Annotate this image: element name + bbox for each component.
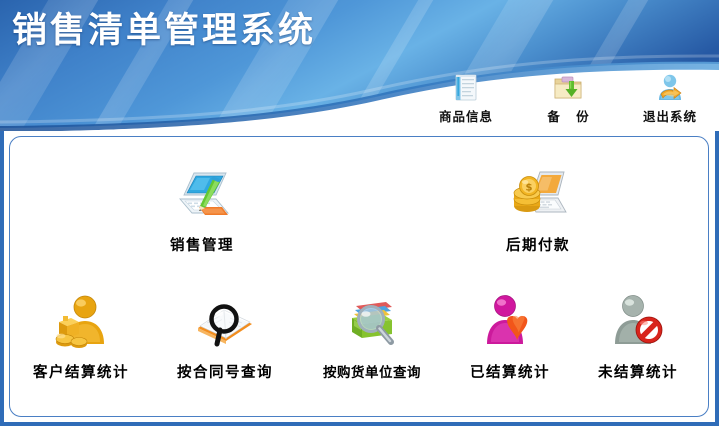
document-icon (449, 72, 483, 104)
page-title: 销售清单管理系统 (12, 9, 316, 53)
menu-label-settled-stats: 已结算统计 (470, 361, 550, 382)
application-window: 销售清单管理系统 商品信息 (0, 0, 719, 426)
pink-user-heart-icon (478, 292, 542, 354)
menu-label-unsettled-stats: 未结算统计 (598, 361, 678, 382)
menu-item-customer-settlement-stats[interactable]: 客户结算统计 (11, 292, 151, 382)
left-border-rail (0, 131, 4, 426)
folder-download-icon (551, 72, 585, 104)
toolbar-label-exit-system: 退出系统 (643, 106, 697, 125)
user-exit-icon (653, 72, 687, 104)
menu-panel: 销售管理 (9, 136, 709, 417)
toolbar-item-product-info[interactable]: 商品信息 (427, 72, 505, 125)
bottom-border-rail (0, 422, 719, 426)
book-magnifier-icon (193, 292, 257, 354)
cards-magnifier-icon (340, 292, 404, 354)
menu-item-unsettled-stats[interactable]: 未结算统计 (568, 292, 708, 382)
menu-label-query-by-purchaser: 按购货单位查询 (323, 361, 421, 381)
gray-user-forbidden-icon (606, 292, 670, 354)
main-content-area: 销售管理 (0, 131, 719, 426)
svg-text:$: $ (526, 183, 533, 194)
toolbar-label-backup: 备 份 (541, 106, 594, 125)
gold-user-coins-icon (49, 292, 113, 354)
menu-item-sales-management[interactable]: 销售管理 (132, 165, 272, 255)
toolbar-label-product-info: 商品信息 (439, 106, 493, 125)
menu-item-query-by-purchaser[interactable]: 按购货单位查询 (302, 292, 442, 381)
menu-item-query-by-contract-no[interactable]: 按合同号查询 (155, 292, 295, 382)
coins-laptop-icon: $ (506, 165, 570, 227)
menu-label-later-payment: 后期付款 (506, 234, 570, 255)
menu-row-secondary: 客户结算统计 (10, 292, 710, 402)
menu-item-later-payment[interactable]: $ 后期付款 (468, 165, 608, 255)
menu-label-customer-settlement-stats: 客户结算统计 (33, 361, 129, 382)
menu-label-query-by-contract-no: 按合同号查询 (177, 361, 273, 382)
right-border-rail (715, 131, 719, 426)
toolbar-item-backup[interactable]: 备 份 (529, 72, 607, 125)
top-toolbar: 商品信息 备 份 (427, 72, 709, 125)
toolbar-item-exit-system[interactable]: 退出系统 (631, 72, 709, 125)
menu-row-primary: 销售管理 (10, 165, 710, 275)
menu-label-sales-management: 销售管理 (170, 234, 234, 255)
menu-item-settled-stats[interactable]: 已结算统计 (440, 292, 580, 382)
laptop-pen-icon (170, 165, 234, 227)
